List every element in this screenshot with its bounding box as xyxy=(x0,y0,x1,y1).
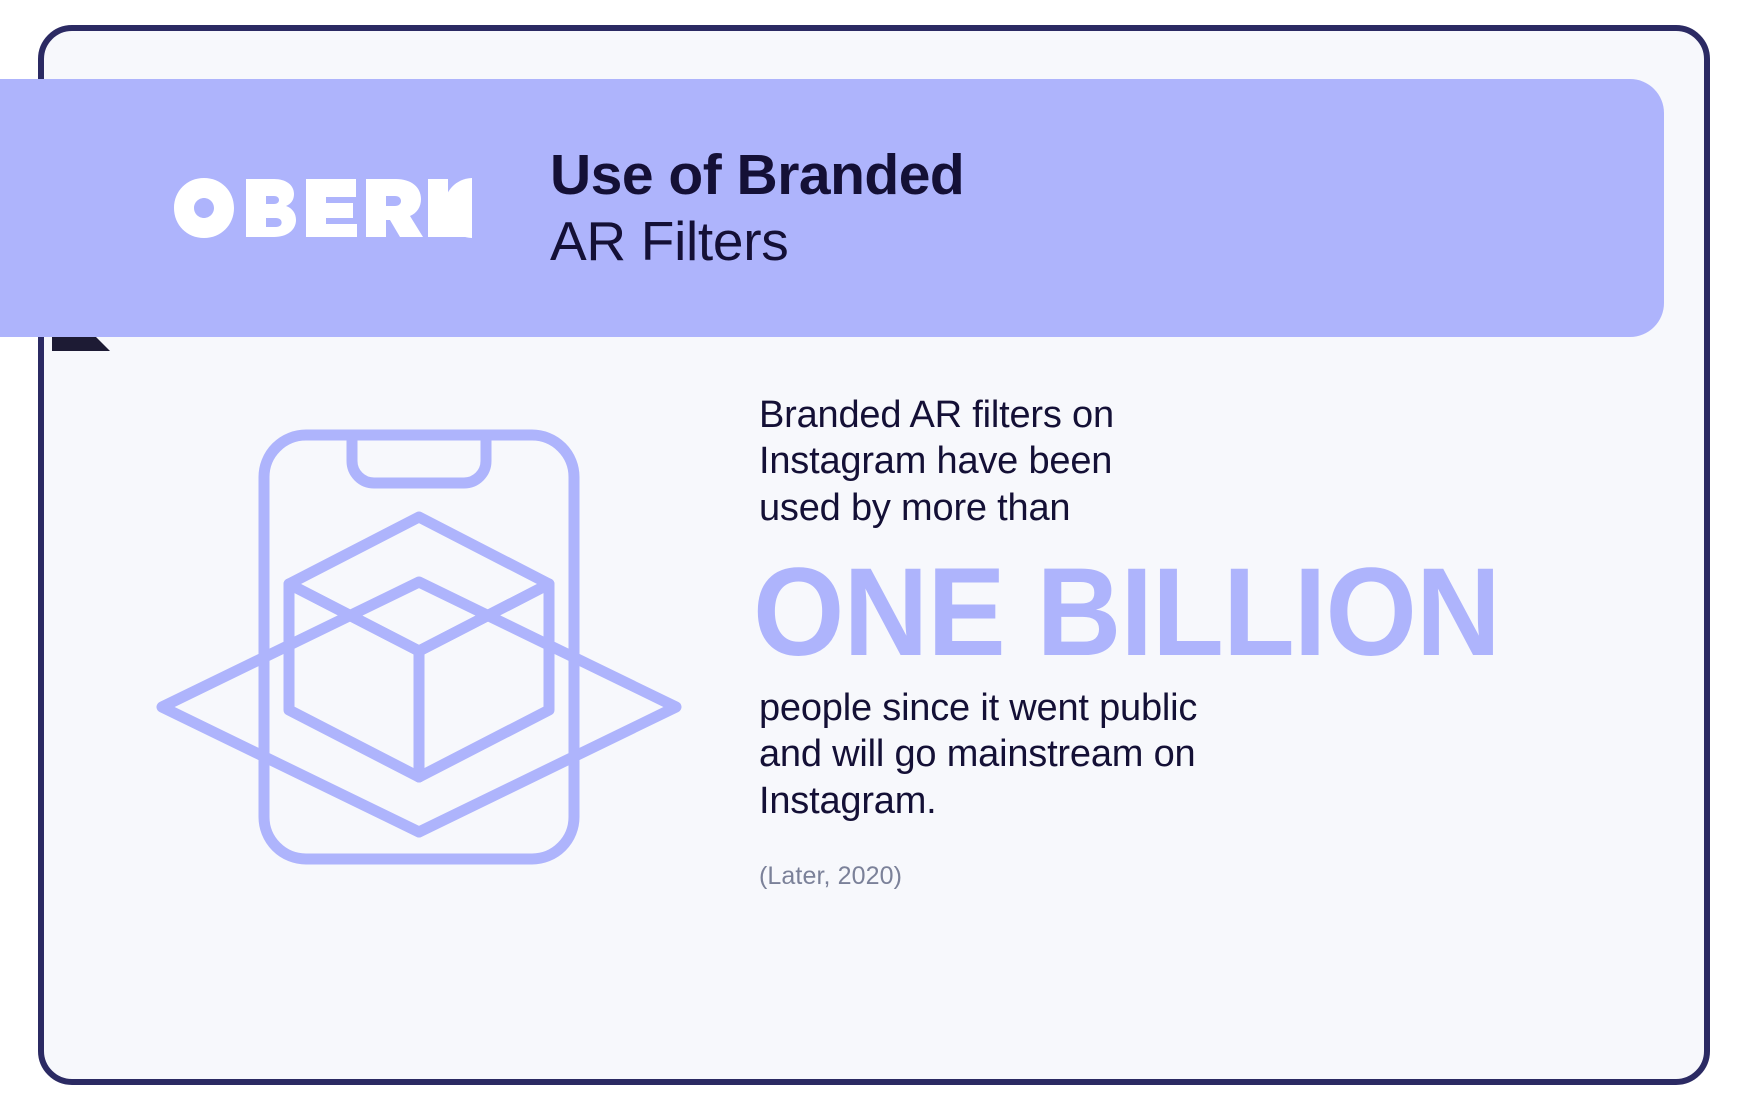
infographic-card: OBERLO xyxy=(38,25,1710,1085)
card-body: Branded AR filters on Instagram have bee… xyxy=(44,337,1704,1079)
phone-ar-cube-icon xyxy=(154,377,684,917)
header-content: OBERLO xyxy=(44,79,1664,337)
title-line-1: Use of Branded xyxy=(550,142,964,209)
title-line-2: AR Filters xyxy=(550,209,964,274)
header-ribbon: OBERLO xyxy=(0,79,1664,337)
source-citation: (Later, 2020) xyxy=(759,862,1319,891)
page-title: Use of Branded AR Filters xyxy=(550,142,964,274)
oberlo-logo: OBERLO xyxy=(172,176,472,240)
intro-text: Branded AR filters on Instagram have bee… xyxy=(759,392,1319,531)
stat-text-column: Branded AR filters on Instagram have bee… xyxy=(759,392,1319,891)
outro-text: people since it went public and will go … xyxy=(759,685,1319,824)
big-stat-number: ONE BILLION xyxy=(753,553,1285,673)
